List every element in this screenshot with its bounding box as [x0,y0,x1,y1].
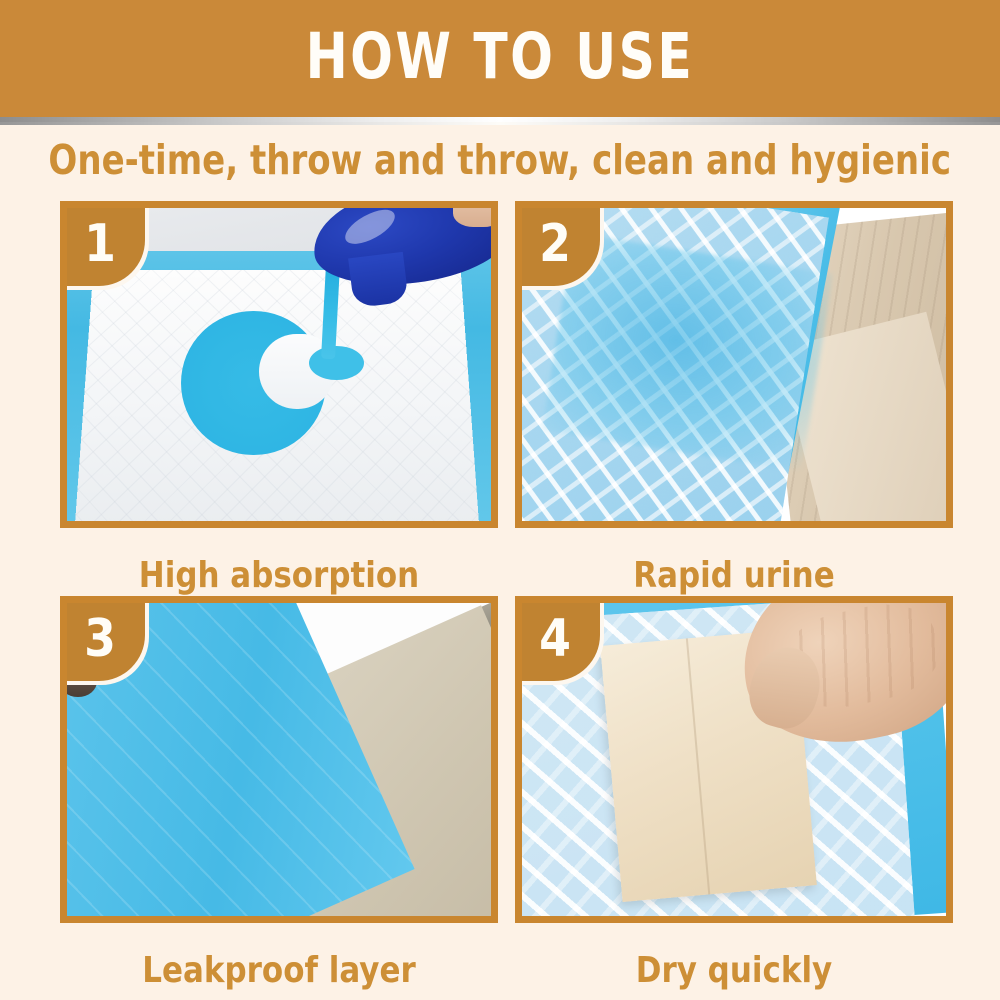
step-1-photo-frame: 1 [60,201,498,528]
step-3-photo-frame: 3 [60,596,498,923]
step-number-3: 3 [84,613,116,665]
step-number-2: 2 [539,218,571,270]
step-2-photo-frame: 2 [515,201,953,528]
blue-liquid-puddle [181,311,325,455]
step-card-3: 3 Leakproof layer [60,596,498,989]
page-title: HOW TO USE [306,25,695,92]
step-4-photo-frame: 4 [515,596,953,923]
chrome-divider [0,117,1000,125]
step-number-4: 4 [539,613,571,665]
subtitle-text: One-time, throw and throw, clean and hyg… [49,140,952,181]
step-number-1: 1 [84,218,116,270]
liquid-splash [309,346,364,380]
steps-grid: 1 High absorption 2 Rapid urine penetrat… [60,201,941,981]
step-caption-3: Leakproof layer [91,923,468,989]
subtitle-container: One-time, throw and throw, clean and hyg… [0,129,1000,191]
header-band: HOW TO USE [0,0,1000,117]
step-card-1: 1 High absorption [60,201,498,594]
step-card-2: 2 Rapid urine penetration [515,201,953,630]
step-caption-1: High absorption [91,528,468,594]
step-card-4: 4 Dry quickly [515,596,953,989]
step-caption-4: Dry quickly [546,923,923,989]
